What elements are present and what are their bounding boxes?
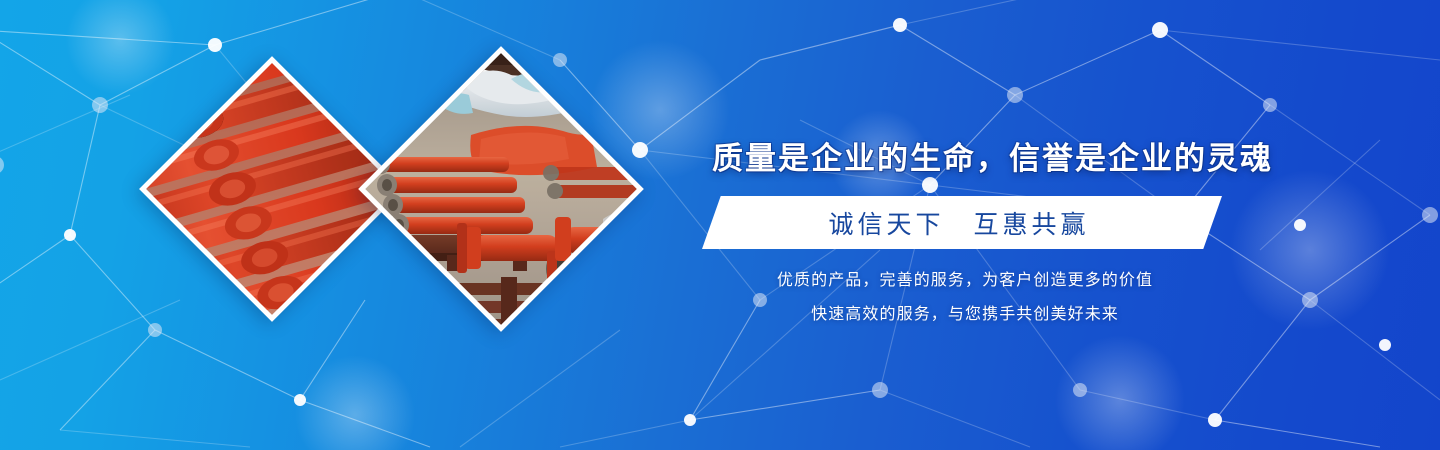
page-title: 质量是企业的生命，信誉是企业的灵魂: [712, 137, 1232, 181]
slogan-ribbon: 诚信天下 互惠共赢: [702, 196, 1222, 249]
subtitle-line-2: 快速高效的服务，与您携手共创美好未来: [700, 298, 1230, 332]
subtitle-line-1: 优质的产品，完善的服务，为客户创造更多的价值: [700, 264, 1230, 298]
slogan-ribbon-text: 诚信天下 互惠共赢: [702, 196, 1222, 249]
promo-banner: 质量是企业的生命，信誉是企业的灵魂 诚信天下 互惠共赢 优质的产品，完善的服务，…: [0, 0, 1440, 450]
subtitle-block: 优质的产品，完善的服务，为客户创造更多的价值 快速高效的服务，与您携手共创美好未…: [700, 264, 1230, 332]
